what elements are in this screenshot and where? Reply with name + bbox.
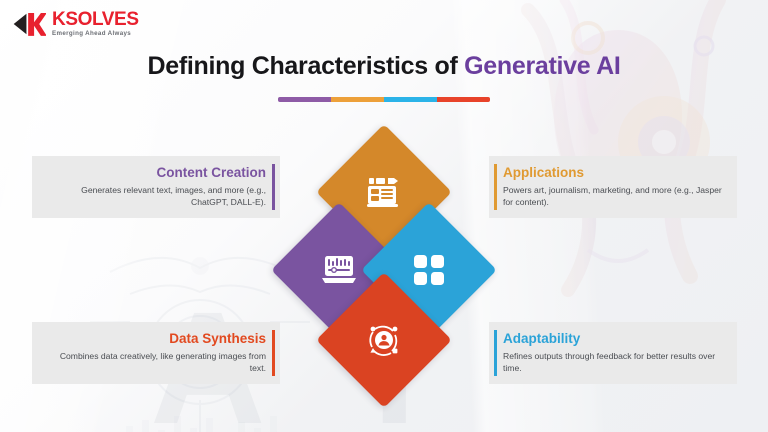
card-accent-rule [272,164,275,210]
ai-gear-network-icon [367,323,401,357]
card-content-creation[interactable]: Content Creation Generates relevant text… [32,156,280,218]
diamond-cluster [291,144,477,388]
grid-apps-icon [414,255,444,285]
card-accent-rule [494,330,497,376]
card-adaptability[interactable]: Adaptability Refines outputs through fee… [489,322,737,384]
card-description: Combines data creatively, like generatin… [44,350,266,375]
page-title: Defining Characteristics of Generative A… [0,52,768,81]
brand-logo[interactable]: KSOLVES Emerging Ahead Always [12,10,139,37]
card-description: Powers art, journalism, marketing, and m… [503,184,725,209]
card-data-synthesis[interactable]: Data Synthesis Combines data creatively,… [32,322,280,384]
card-title: Data Synthesis [44,331,266,347]
card-description: Generates relevant text, images, and mor… [44,184,266,209]
divider-segment-1 [278,97,331,102]
title-divider [278,97,490,102]
divider-segment-2 [331,97,384,102]
card-title: Applications [503,165,725,181]
card-accent-rule [272,330,275,376]
ai-face-artwork [468,0,768,300]
page-title-block: Defining Characteristics of Generative A… [0,52,768,102]
ksolves-logo-icon [12,11,46,37]
page-title-main: Defining Characteristics of [147,52,464,80]
infographic-canvas: A I ERA KSOLVES Emerging Ahead Always De… [0,0,768,432]
divider-segment-4 [437,97,490,102]
card-description: Refines outputs through feedback for bet… [503,350,725,375]
card-applications[interactable]: Applications Powers art, journalism, mar… [489,156,737,218]
article-pencil-icon [367,176,401,208]
divider-segment-3 [384,97,437,102]
card-title: Adaptability [503,331,725,347]
brand-tagline: Emerging Ahead Always [52,31,139,37]
laptop-analytics-icon [322,255,356,285]
card-accent-rule [494,164,497,210]
card-title: Content Creation [44,165,266,181]
brand-name: KSOLVES [52,10,139,29]
page-title-accent: Generative AI [464,52,620,80]
